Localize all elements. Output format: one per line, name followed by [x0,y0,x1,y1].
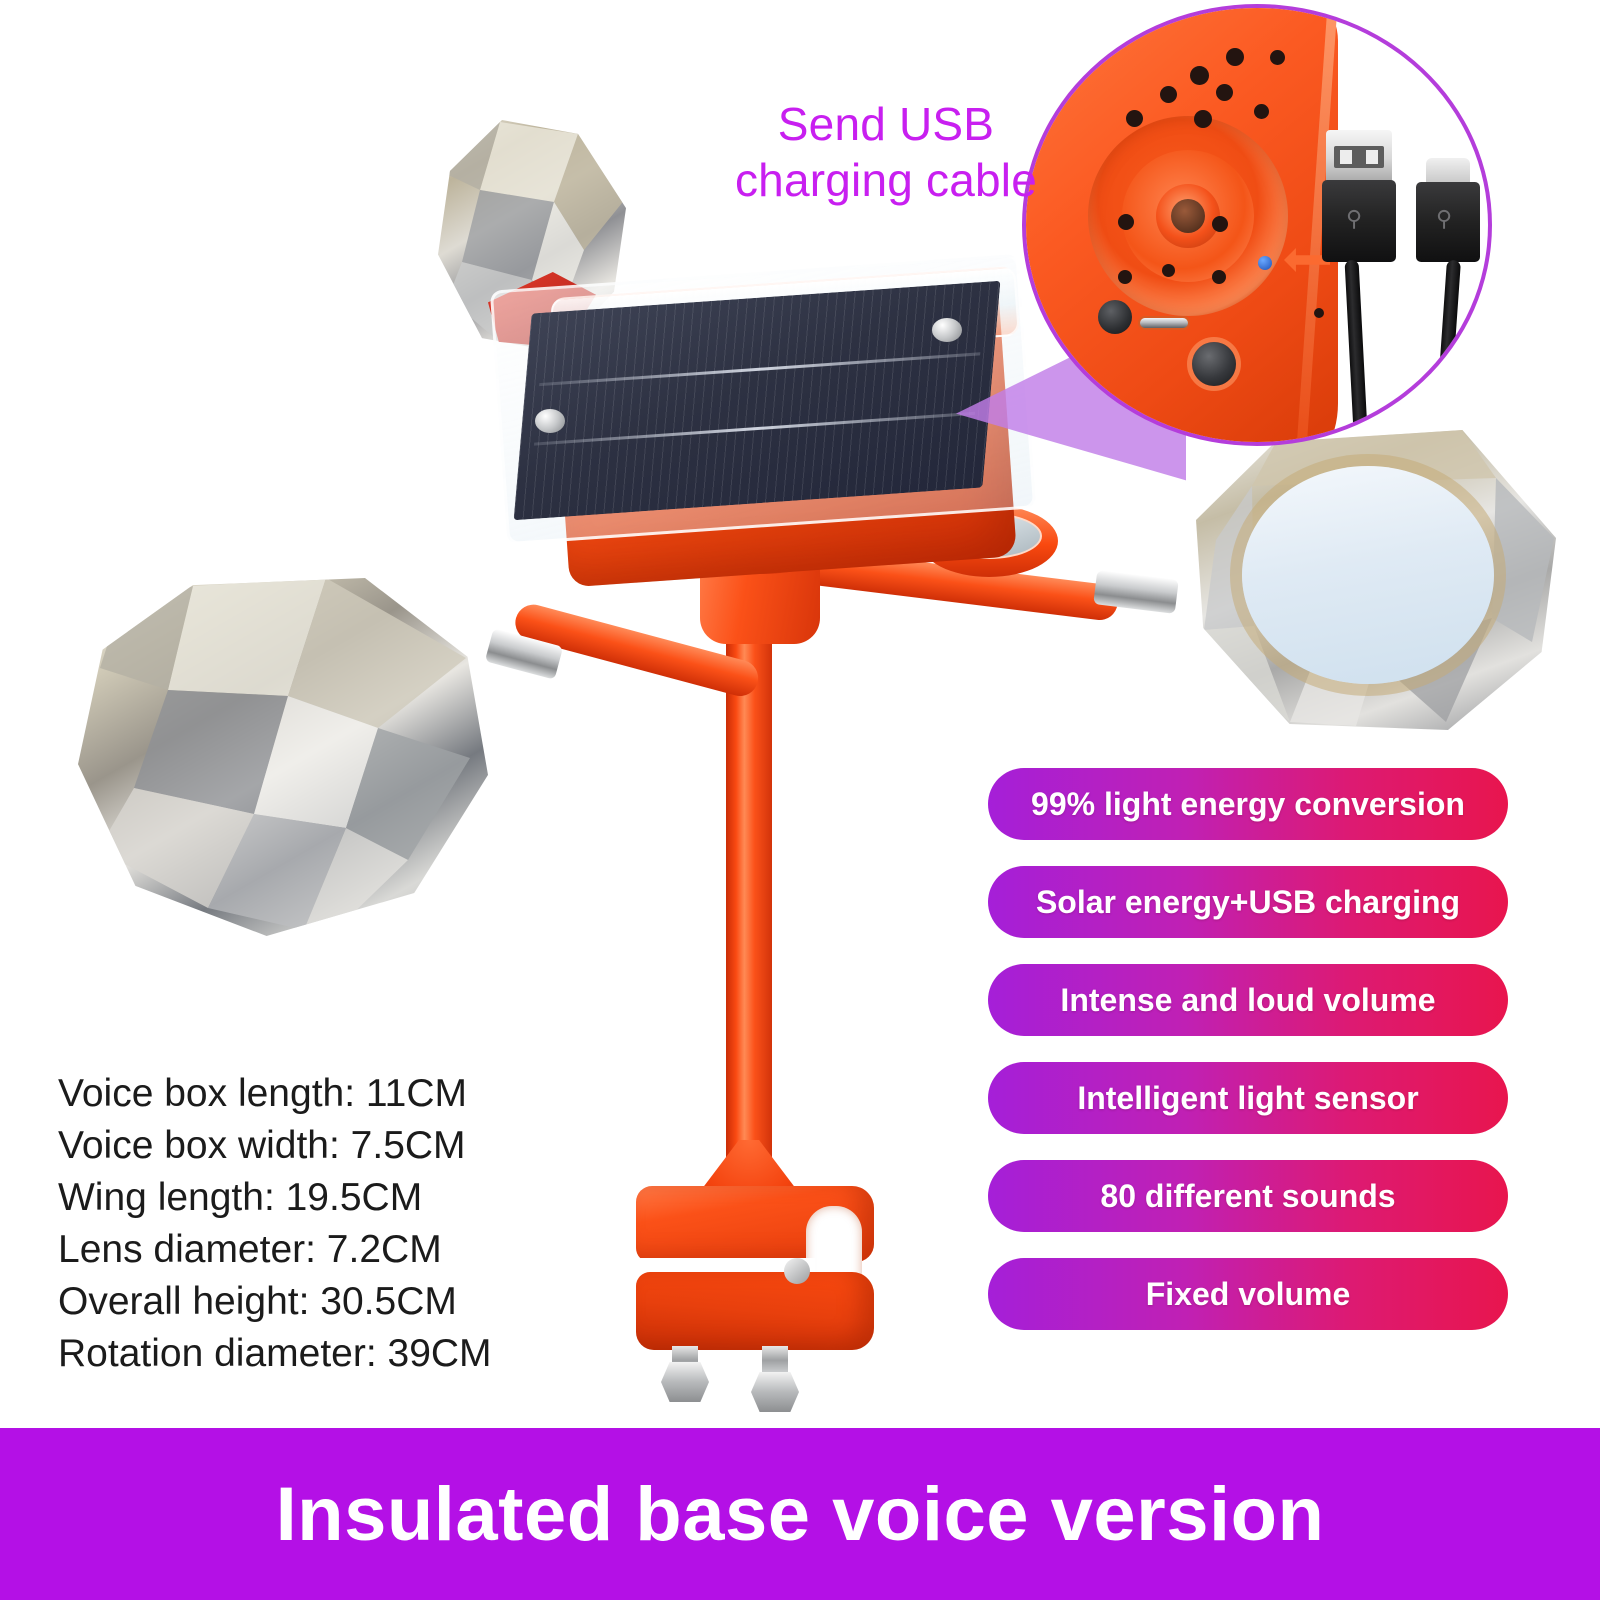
bottom-banner: Insulated base voice version [0,1428,1600,1600]
speaker-hole [1162,264,1175,277]
speaker-hole [1194,110,1212,128]
feature-pill-light-conversion[interactable]: 99% light energy conversion [988,768,1508,840]
feature-pill-loud-volume[interactable]: Intense and loud volume [988,964,1508,1036]
clamp-lower-jaw [636,1272,874,1350]
spec-line-voice-box-length: Voice box length: 11CM [58,1068,618,1120]
solar-panel-busbar-upper [539,352,980,386]
product-marketing-image: ⚲ ⚲ Send USB charging cable Voice box le… [0,0,1600,1600]
right-mirror-round-face [1242,466,1494,684]
solar-panel [514,281,1001,521]
usb-charging-inset: ⚲ ⚲ [1022,4,1492,446]
speaker-hole [1118,214,1134,230]
usb-a-pin [1340,150,1352,164]
feature-pill-list: 99% light energy conversion Solar energy… [988,768,1508,1330]
speaker-hole [1212,270,1226,284]
clamp-hex-nut-right [751,1372,799,1412]
usb-cable-strand-c [1433,260,1461,446]
speaker-hole [1270,50,1285,65]
clamp-hex-nut-left [661,1362,709,1402]
usb-c-housing: ⚲ [1416,182,1480,262]
usb-a-pin [1366,150,1378,164]
clamp-bolt-pin [784,1258,810,1284]
spec-line-lens-diameter: Lens diameter: 7.2CM [58,1224,618,1276]
usb-trident-icon: ⚲ [1346,208,1362,230]
speaker-hole [1190,66,1209,85]
inset-reset-hole [1314,308,1324,318]
solar-panel-screw-right [932,318,962,342]
inset-speaker-core [1171,199,1205,233]
speaker-hole [1160,86,1177,103]
send-usb-cable-label: Send USB charging cable [706,96,1066,208]
solar-panel-busbar-lower [534,412,975,446]
speaker-hole [1254,104,1269,119]
inset-usbc-port [1138,316,1190,330]
spec-line-voice-box-width: Voice box width: 7.5CM [58,1120,618,1172]
spec-line-rotation-diameter: Rotation diameter: 39CM [58,1328,618,1380]
feature-pill-solar-usb-charging[interactable]: Solar energy+USB charging [988,866,1508,938]
speaker-hole [1226,48,1244,66]
feature-pill-fixed-volume[interactable]: Fixed volume [988,1258,1508,1330]
usb-trident-icon: ⚲ [1436,208,1452,230]
vertical-stem [726,615,772,1180]
speaker-hole [1212,216,1228,232]
spec-line-wing-length: Wing length: 19.5CM [58,1172,618,1224]
left-mirror-ball [78,578,488,936]
usb-a-housing: ⚲ [1322,180,1396,262]
speaker-hole [1126,110,1143,127]
speaker-hole [1118,270,1132,284]
inset-secondary-button [1098,300,1132,334]
spec-line-overall-height: Overall height: 30.5CM [58,1276,618,1328]
speaker-hole [1216,84,1233,101]
specifications-list: Voice box length: 11CM Voice box width: … [58,1068,618,1380]
usb-cable-strand-a [1345,260,1370,446]
feature-pill-light-sensor[interactable]: Intelligent light sensor [988,1062,1508,1134]
clamp-screw-shaft-right [762,1346,788,1372]
inset-power-button [1192,342,1236,386]
banner-title: Insulated base voice version [276,1471,1325,1558]
inset-status-led [1258,256,1272,270]
solar-panel-screw-left [535,409,565,433]
feature-pill-different-sounds[interactable]: 80 different sounds [988,1160,1508,1232]
